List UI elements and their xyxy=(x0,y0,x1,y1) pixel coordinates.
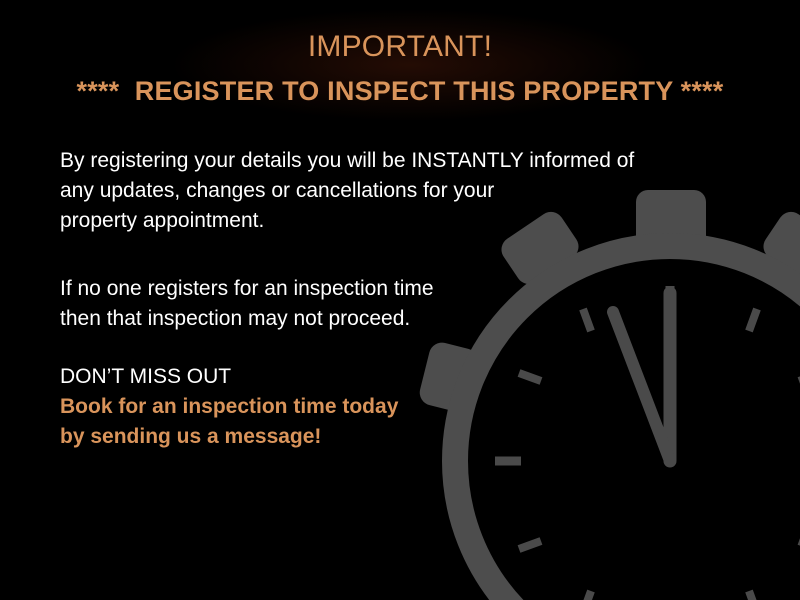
body-paragraph-registering: By registering your details you will be … xyxy=(60,146,634,236)
page-title-important: IMPORTANT! xyxy=(0,30,800,64)
body-paragraph-dont-miss-out: DON’T MISS OUT xyxy=(60,362,231,392)
call-to-action-text: Book for an inspection time today by sen… xyxy=(60,392,398,452)
page-title-register: **** REGISTER TO INSPECT THIS PROPERTY *… xyxy=(0,76,800,107)
text-layer: IMPORTANT! **** REGISTER TO INSPECT THIS… xyxy=(0,0,800,600)
body-paragraph-no-registration: If no one registers for an inspection ti… xyxy=(60,274,434,334)
promo-slide: IMPORTANT! **** REGISTER TO INSPECT THIS… xyxy=(0,0,800,600)
